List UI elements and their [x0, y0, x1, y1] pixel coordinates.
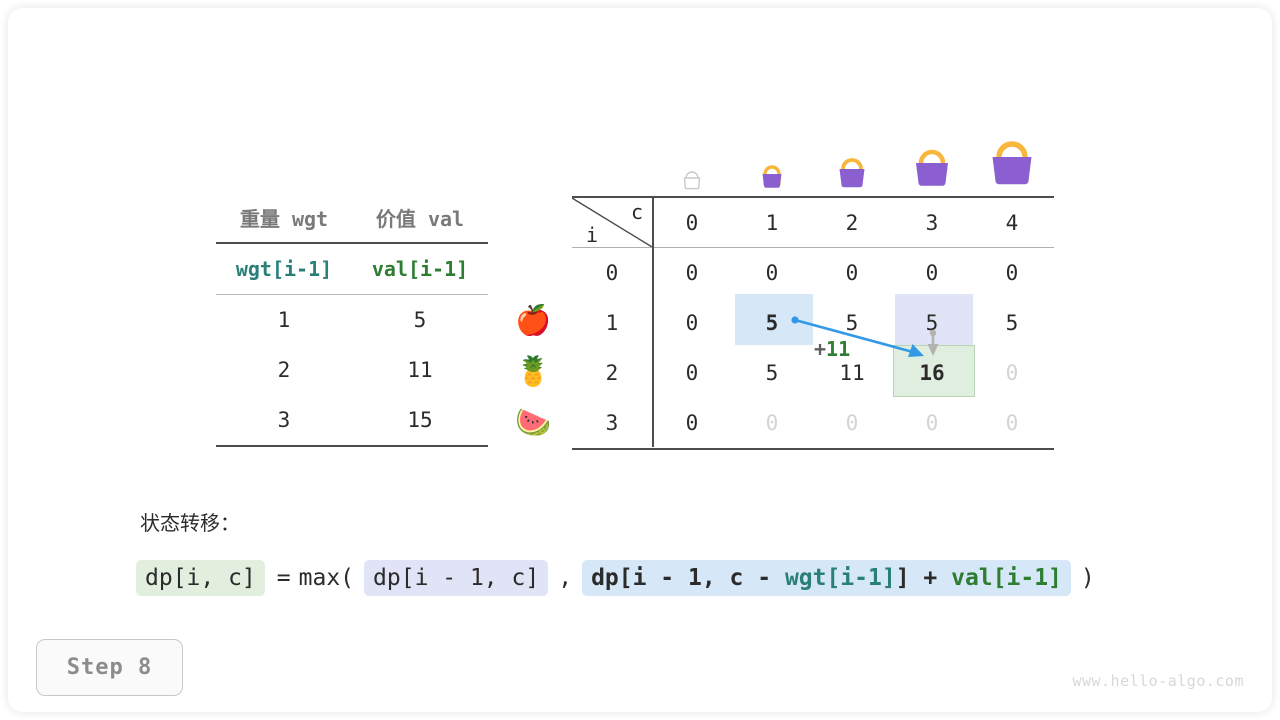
- item-row: 2 11: [216, 345, 488, 395]
- dp-cell-1-4: 5: [972, 311, 1052, 335]
- formula-option-skip: dp[i - 1, c]: [364, 560, 548, 596]
- formula-take-val: val[i-1]: [951, 565, 1062, 591]
- dp-cell-3-2: 0: [812, 411, 892, 435]
- item-table: 重量 wgt 价值 val wgt[i-1] val[i-1] 1 5 2 11…: [216, 192, 488, 447]
- dp-cell-0-1: 0: [732, 261, 812, 285]
- dp-cell-1-3: 5: [892, 311, 972, 335]
- dp-cell-0-0: 0: [652, 261, 732, 285]
- dp-row: 0 0 0 0 0 0: [572, 248, 1054, 298]
- dp-cell-1-1: 5: [732, 311, 812, 335]
- apple-emoji-icon: 🍎: [508, 295, 558, 346]
- state-transition-label: 状态转移：: [140, 507, 240, 536]
- dp-col-header: 1: [732, 211, 812, 235]
- item-symbol-wgt: wgt[i-1]: [216, 257, 352, 281]
- bag-icon-size-1: [732, 160, 812, 190]
- dp-row-header: 2: [572, 361, 652, 385]
- dp-cell-3-0: 0: [652, 411, 732, 435]
- dp-cell-3-1: 0: [732, 411, 812, 435]
- item-table-header-row: 重量 wgt 价值 val: [216, 192, 488, 242]
- formula-max-open: max(: [295, 565, 358, 591]
- dp-corner-row-label: i: [586, 223, 598, 247]
- dp-cell-2-0: 0: [652, 361, 732, 385]
- dp-corner-col-label: c: [631, 200, 643, 224]
- item-table-symbol-row: wgt[i-1] val[i-1]: [216, 244, 488, 294]
- dp-row-header: 1: [572, 311, 652, 335]
- formula-option-take: dp[i - 1, c - wgt[i-1]] + val[i-1]: [582, 560, 1071, 596]
- dp-cell-2-2: 11: [812, 361, 892, 385]
- bag-icon-size-3: [892, 143, 972, 190]
- formula-take-wgt: wgt[i-1]: [785, 565, 896, 591]
- dp-col-header: 0: [652, 211, 732, 235]
- dp-table-rule-bottom: [572, 448, 1054, 450]
- transition-gain-label: +11: [814, 337, 850, 361]
- dp-row-header: 0: [572, 261, 652, 285]
- dp-row-header: 3: [572, 411, 652, 435]
- item-header-weight: 重量 wgt: [216, 203, 352, 232]
- formula-comma: ,: [554, 565, 576, 591]
- dp-row: 1 0 5 5 5 5: [572, 298, 1054, 348]
- gain-value: 11: [826, 337, 850, 361]
- step-badge: Step 8: [36, 639, 183, 696]
- dp-cell-1-0: 0: [652, 311, 732, 335]
- bag-icon-size-2: [812, 153, 892, 190]
- bag-icon-size-0: [652, 170, 732, 190]
- item-row: 1 5: [216, 295, 488, 345]
- dp-col-header: 4: [972, 211, 1052, 235]
- item-value: 15: [352, 408, 488, 432]
- dp-row: 2 0 5 11 16 0: [572, 348, 1054, 398]
- item-weight: 1: [216, 308, 352, 332]
- slide-canvas: 重量 wgt 价值 val wgt[i-1] val[i-1] 1 5 2 11…: [0, 0, 1280, 720]
- state-transition-formula: dp[i, c] = max( dp[i - 1, c] , dp[i - 1,…: [136, 560, 1099, 596]
- item-value: 5: [352, 308, 488, 332]
- dp-cell-2-4: 0: [972, 361, 1052, 385]
- dp-cell-1-2: 5: [812, 311, 892, 335]
- bag-icon-size-4: [972, 133, 1052, 190]
- dp-cell-0-4: 0: [972, 261, 1052, 285]
- item-header-value: 价值 val: [352, 203, 488, 232]
- formula-close-paren: ): [1077, 565, 1099, 591]
- dp-cell-3-3: 0: [892, 411, 972, 435]
- gain-plus-sign: +: [814, 337, 826, 361]
- dp-cell-2-3: 16: [892, 361, 972, 385]
- dp-row: 3 0 0 0 0 0: [572, 398, 1054, 448]
- pineapple-emoji-icon: 🍍: [508, 346, 558, 397]
- bag-icon-row: [652, 128, 1054, 190]
- dp-header-row: c i 0 1 2 3 4: [572, 198, 1054, 247]
- watermark: www.hello-algo.com: [1072, 672, 1244, 690]
- dp-col-header: 3: [892, 211, 972, 235]
- watermelon-emoji-icon: 🍉: [508, 397, 558, 448]
- dp-table: c i 0 1 2 3 4 0 0 0 0 0 0 1 0 5 5 5 5: [572, 196, 1054, 450]
- item-weight: 2: [216, 358, 352, 382]
- dp-col-header: 2: [812, 211, 892, 235]
- item-row: 3 15: [216, 395, 488, 445]
- item-symbol-val: val[i-1]: [352, 257, 488, 281]
- item-weight: 3: [216, 408, 352, 432]
- item-icon-column: 🍎 🍍 🍉: [508, 295, 558, 448]
- dp-cell-0-2: 0: [812, 261, 892, 285]
- dp-cell-2-1: 5: [732, 361, 812, 385]
- dp-cell-0-3: 0: [892, 261, 972, 285]
- item-value: 11: [352, 358, 488, 382]
- formula-target: dp[i, c]: [136, 560, 265, 596]
- dp-cell-3-4: 0: [972, 411, 1052, 435]
- formula-equals: =: [273, 565, 295, 591]
- item-table-rule-bottom: [216, 445, 488, 447]
- formula-take-mid: ] +: [896, 565, 951, 591]
- formula-take-prefix: dp[i - 1, c -: [591, 565, 785, 591]
